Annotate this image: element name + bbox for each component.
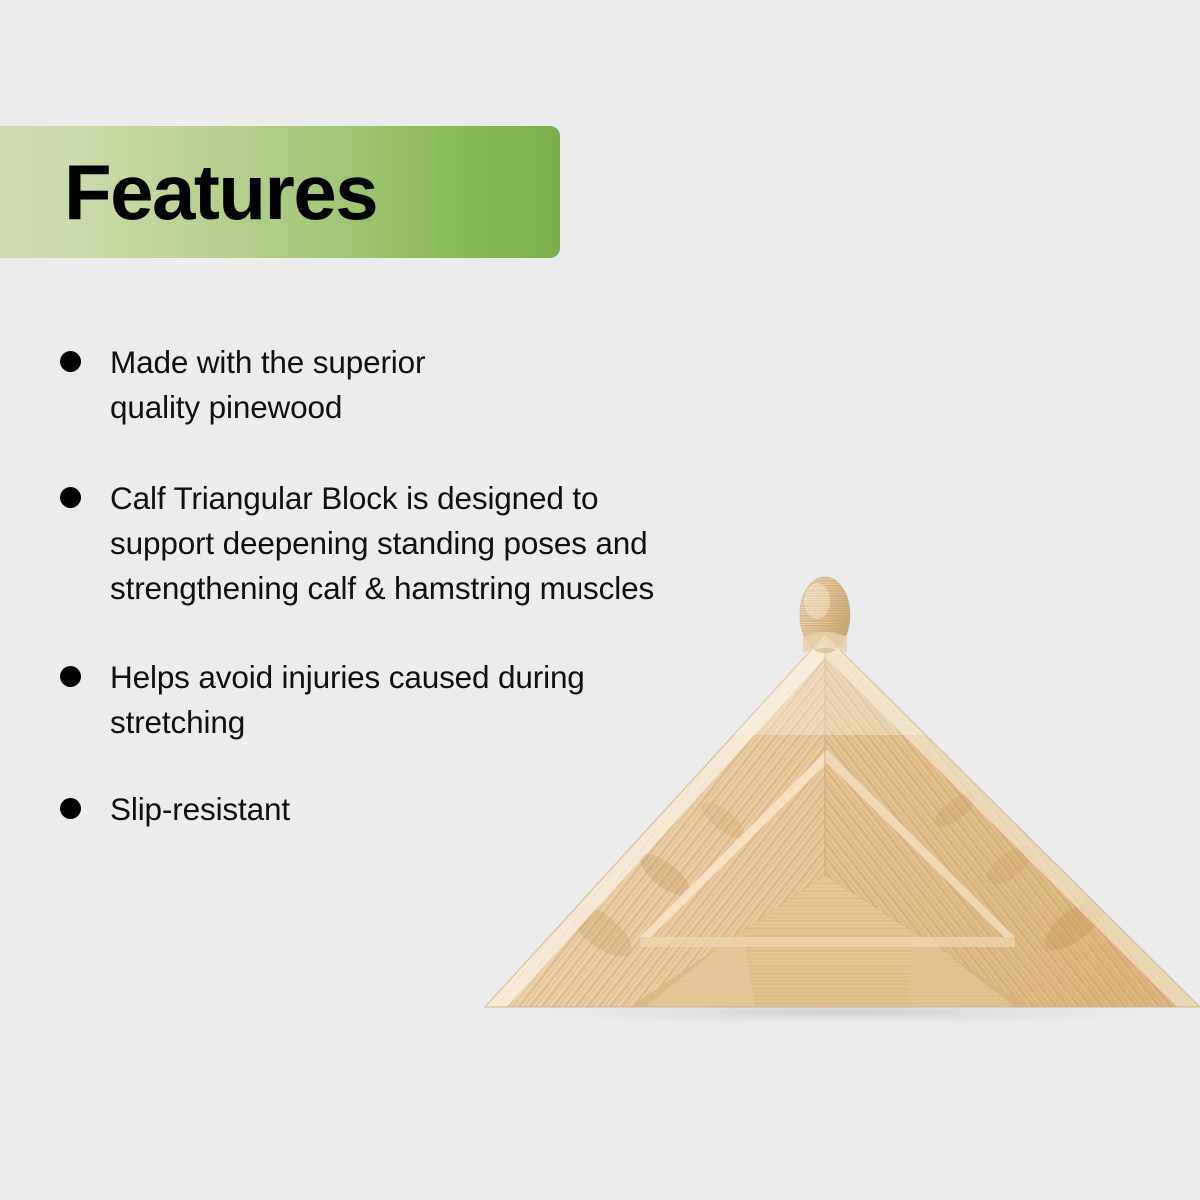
feature-line: support deepening standing poses and xyxy=(110,521,812,566)
feature-text: Made with the superior quality pinewood xyxy=(110,340,812,430)
bullet-icon xyxy=(60,666,81,687)
page-title: Features xyxy=(64,155,377,229)
block-highlight xyxy=(725,635,925,735)
list-item: Made with the superior quality pinewood xyxy=(52,340,812,430)
bullet-icon xyxy=(60,798,81,819)
feature-line: quality pinewood xyxy=(110,385,812,430)
feature-page: Features Made with the superior quality … xyxy=(0,0,1200,1200)
product-image-calf-triangular-block xyxy=(455,575,1200,1035)
features-header-banner: Features xyxy=(0,126,560,258)
bullet-icon xyxy=(60,487,81,508)
feature-line: Calf Triangular Block is designed to xyxy=(110,476,812,521)
feature-line: Made with the superior xyxy=(110,340,812,385)
bullet-icon xyxy=(60,351,81,372)
